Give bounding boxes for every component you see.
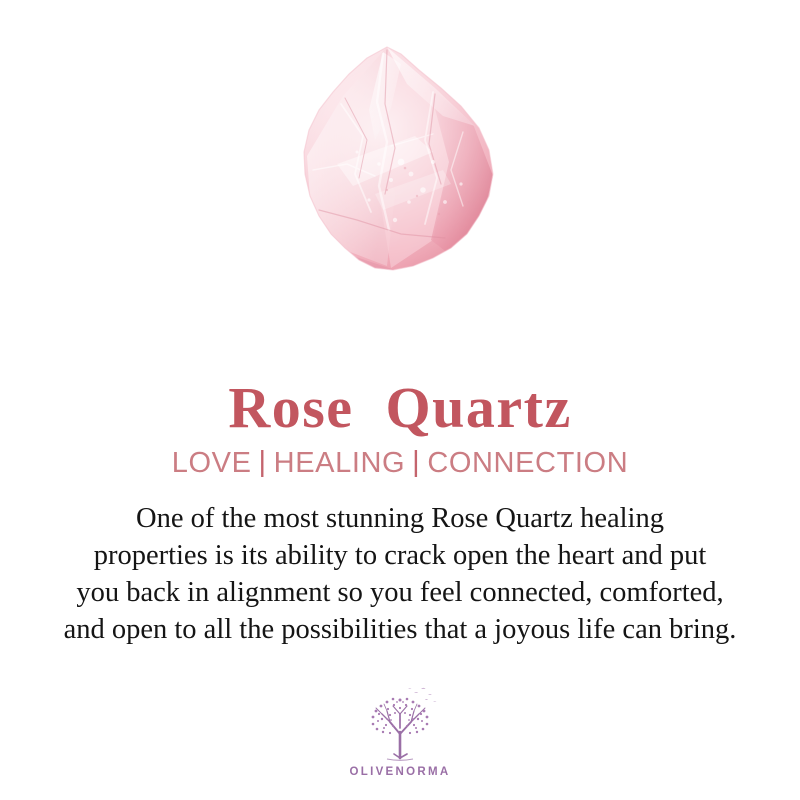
keyword-separator-1: | [252, 446, 274, 478]
rose-quartz-crystal-image [283, 44, 519, 284]
brand-logo: OLIVENORMA [0, 684, 800, 778]
description-text: One of the most stunning Rose Quartz hea… [20, 500, 780, 648]
description-line: you back in alignment so you feel connec… [20, 574, 780, 611]
keyword-healing: HEALING [274, 447, 406, 479]
keyword-tagline: LOVE|HEALING|CONNECTION [0, 445, 800, 481]
product-info-card: Rose Quartz LOVE|HEALING|CONNECTION One … [0, 0, 800, 800]
crystal-body [283, 44, 519, 284]
hero-image-area [0, 0, 800, 300]
keyword-love: LOVE [172, 447, 252, 479]
tree-of-life-icon [357, 684, 443, 762]
description-line: One of the most stunning Rose Quartz hea… [20, 500, 780, 537]
page-title: Rose Quartz [0, 376, 800, 440]
description-line: properties is its ability to crack open … [20, 537, 780, 574]
tree-birds [408, 688, 436, 702]
brand-name: OLIVENORMA [0, 766, 800, 778]
keyword-connection: CONNECTION [427, 447, 628, 479]
description-line: and open to all the possibilities that a… [20, 611, 780, 648]
keyword-separator-2: | [405, 446, 427, 478]
